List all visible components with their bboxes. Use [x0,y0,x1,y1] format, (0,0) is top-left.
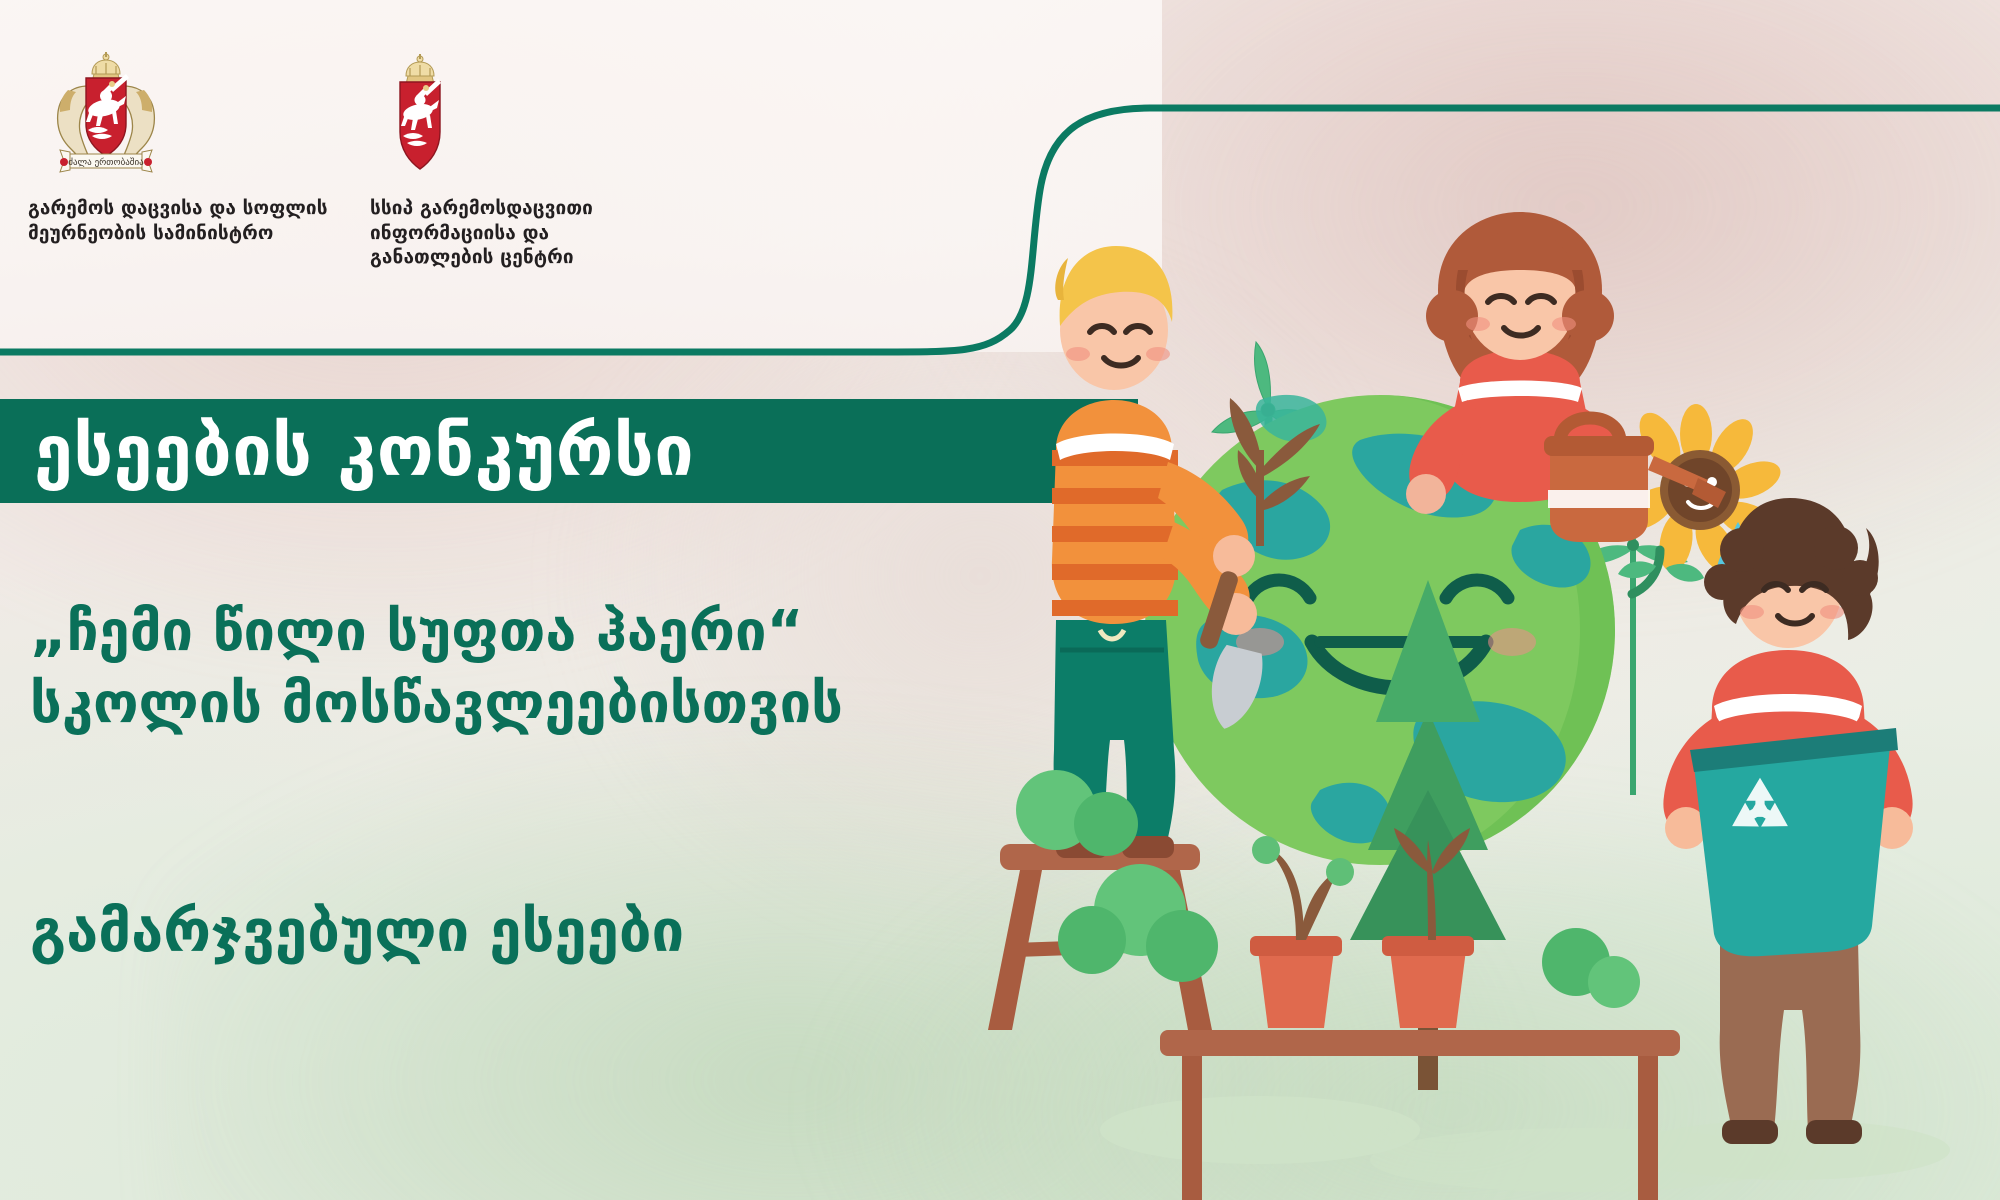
illustration-children-planting-earth [960,150,2000,1200]
georgia-small-coat-of-arms-icon [370,52,670,184]
logo-center-caption-line2: ინფორმაციისა და [370,222,549,244]
boy-holding-recycling-bin [1663,498,1913,1144]
logo-center-caption: სსიპ გარემოსდაცვითი ინფორმაციისა და განა… [370,196,670,270]
logo-center-caption-line1: სსიპ გარემოსდაცვითი [370,197,593,219]
recycling-bin [1690,728,1898,956]
logo-ministry-caption-line2: მეურნეობის სამინისტრო [28,222,274,244]
georgia-coat-of-arms-icon: ძალა ერთობაშია [28,52,328,184]
logo-ministry-caption-line1: გარემოს დაცვისა და სოფლის [28,197,328,219]
header-logos: ძალა ერთობაშია გარემოს დაცვისა და სოფლის… [0,0,900,300]
crest-motto-text: ძალა ერთობაშია [68,157,144,168]
logo-ministry: ძალა ერთობაშია გარემოს დაცვისა და სოფლის… [28,52,328,245]
logo-environmental-center: სსიპ გარემოსდაცვითი ინფორმაციისა და განა… [370,52,670,270]
banner-title-text: ესეების კონკურსი [0,416,694,486]
logo-ministry-caption: გარემოს დაცვისა და სოფლის მეურნეობის სამ… [28,196,328,245]
logo-center-caption-line3: განათლების ცენტრი [370,246,574,268]
poster-canvas: ძალა ერთობაშია გარემოს დაცვისა და სოფლის… [0,0,2000,1200]
